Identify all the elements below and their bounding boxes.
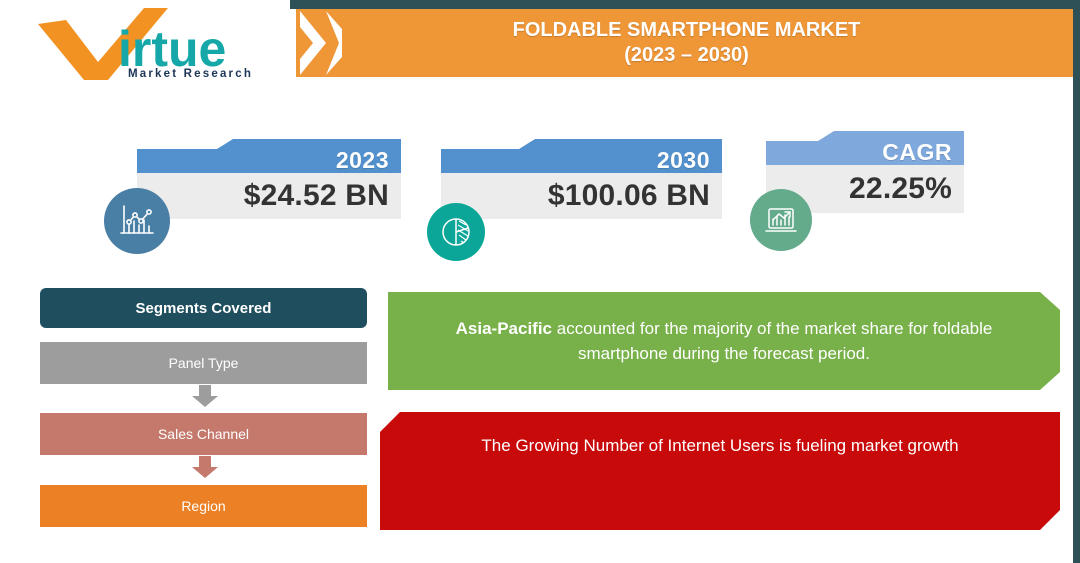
page-title-line2: (2023 – 2030) — [624, 44, 749, 66]
stat-card-2030-label: 2030 — [657, 147, 710, 174]
segment-label: Sales Channel — [158, 426, 249, 442]
page-title: FOLDABLE SMARTPHONE MARKET (2023 – 2030) — [513, 18, 861, 68]
segment-item-region[interactable]: Region — [40, 485, 367, 527]
header-banner: FOLDABLE SMARTPHONE MARKET (2023 – 2030) — [290, 9, 1073, 77]
stat-card-2030: 2030 $100.06 BN — [441, 139, 722, 219]
segments-covered-header: Segments Covered — [40, 288, 367, 328]
stat-card-2030-value: $100.06 BN — [548, 179, 722, 213]
segment-label: Panel Type — [169, 355, 239, 371]
segment-label: Region — [181, 498, 225, 514]
stat-card-2023-value: $24.52 BN — [244, 179, 401, 213]
stat-card-cagr-label: CAGR — [882, 139, 952, 166]
virtue-market-research-logo: irtue Market Research — [36, 8, 276, 80]
stat-card-2023: 2023 $24.52 BN — [137, 139, 401, 219]
stat-card-2023-label: 2023 — [336, 147, 389, 174]
segment-item-panel-type[interactable]: Panel Type — [40, 342, 367, 384]
arrow-down-icon — [190, 385, 220, 407]
chevron-right-icon — [286, 9, 342, 77]
stat-card-2023-tab: 2023 — [137, 139, 401, 173]
line-bar-chart-icon — [104, 188, 170, 254]
stat-card-2023-body: $24.52 BN — [137, 173, 401, 219]
top-accent-strip — [290, 0, 1080, 9]
stat-card-cagr-tab: CAGR — [766, 131, 964, 165]
stat-card-cagr-value: 22.25% — [849, 172, 964, 206]
callout-shape — [380, 412, 1060, 530]
pie-chart-icon — [427, 203, 485, 261]
stat-card-2030-tab: 2030 — [441, 139, 722, 173]
page-title-line1: FOLDABLE SMARTPHONE MARKET — [513, 19, 861, 41]
logo-tagline: Market Research — [128, 68, 253, 80]
region-insight-callout: Asia-Pacific accounted for the majority … — [388, 292, 1060, 390]
infographic-canvas: irtue Market Research FOLDABLE SMARTPHON… — [0, 0, 1080, 563]
growth-chart-icon — [750, 189, 812, 251]
stat-card-2030-body: $100.06 BN — [441, 173, 722, 219]
market-driver-callout: The Growing Number of Internet Users is … — [380, 412, 1060, 530]
segments-covered-label: Segments Covered — [136, 300, 272, 317]
arrow-down-icon — [190, 456, 220, 478]
right-accent-border — [1073, 0, 1080, 563]
segment-item-sales-channel[interactable]: Sales Channel — [40, 413, 367, 455]
callout-shape — [388, 292, 1060, 390]
